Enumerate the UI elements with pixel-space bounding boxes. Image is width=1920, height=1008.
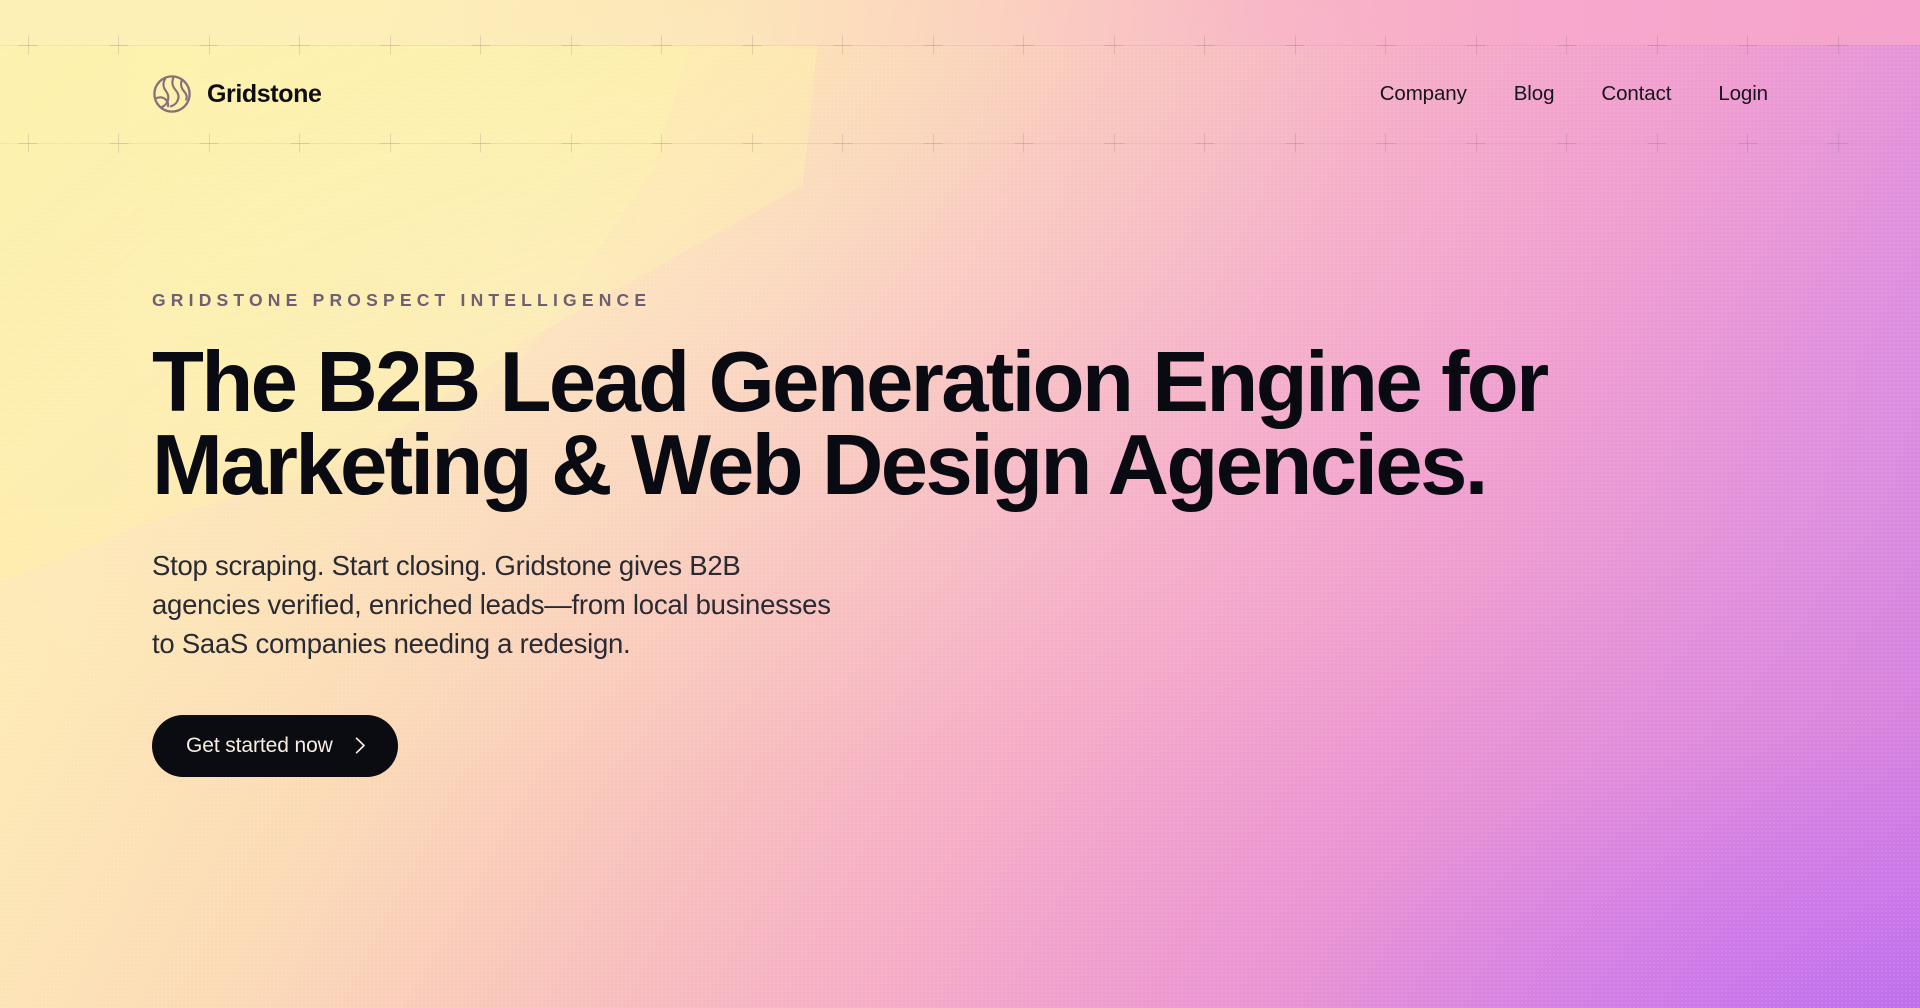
hero-section: GRIDSTONE PROSPECT INTELLIGENCE The B2B … <box>152 290 1752 777</box>
top-color-band <box>0 0 1920 45</box>
gridstone-marble-circle-icon <box>152 74 192 114</box>
hero-subheading-line-3: to SaaS companies needing a redesign. <box>152 624 1032 663</box>
hero-subheading-line-1: Stop scraping. Start closing. Gridstone … <box>152 546 1032 585</box>
nav-item-blog[interactable]: Blog <box>1514 82 1555 106</box>
hero-headline-line-1: The B2B Lead Generation Engine for <box>152 341 1712 424</box>
brand-name: Gridstone <box>207 80 321 109</box>
brand-logo-link[interactable]: Gridstone <box>152 74 321 114</box>
grid-rule-bottom <box>0 143 1920 144</box>
hero-headline: The B2B Lead Generation Engine for Marke… <box>152 341 1712 508</box>
hero-subheading: Stop scraping. Start closing. Gridstone … <box>152 546 1032 663</box>
nav-item-company[interactable]: Company <box>1380 82 1467 106</box>
get-started-button-label: Get started now <box>186 734 333 758</box>
get-started-button[interactable]: Get started now <box>152 715 398 777</box>
site-header: Gridstone Company Blog Contact Login <box>0 45 1920 143</box>
chevron-right-icon <box>355 737 366 754</box>
nav-item-contact[interactable]: Contact <box>1601 82 1671 106</box>
hero-subheading-line-2: agencies verified, enriched leads—from l… <box>152 585 1032 624</box>
page-root: Gridstone Company Blog Contact Login GRI… <box>0 0 1920 1008</box>
main-navigation: Company Blog Contact Login <box>1380 82 1768 106</box>
hero-headline-line-2: Marketing & Web Design Agencies. <box>152 424 1712 507</box>
nav-item-login[interactable]: Login <box>1718 82 1768 106</box>
hero-eyebrow: GRIDSTONE PROSPECT INTELLIGENCE <box>152 290 1752 311</box>
